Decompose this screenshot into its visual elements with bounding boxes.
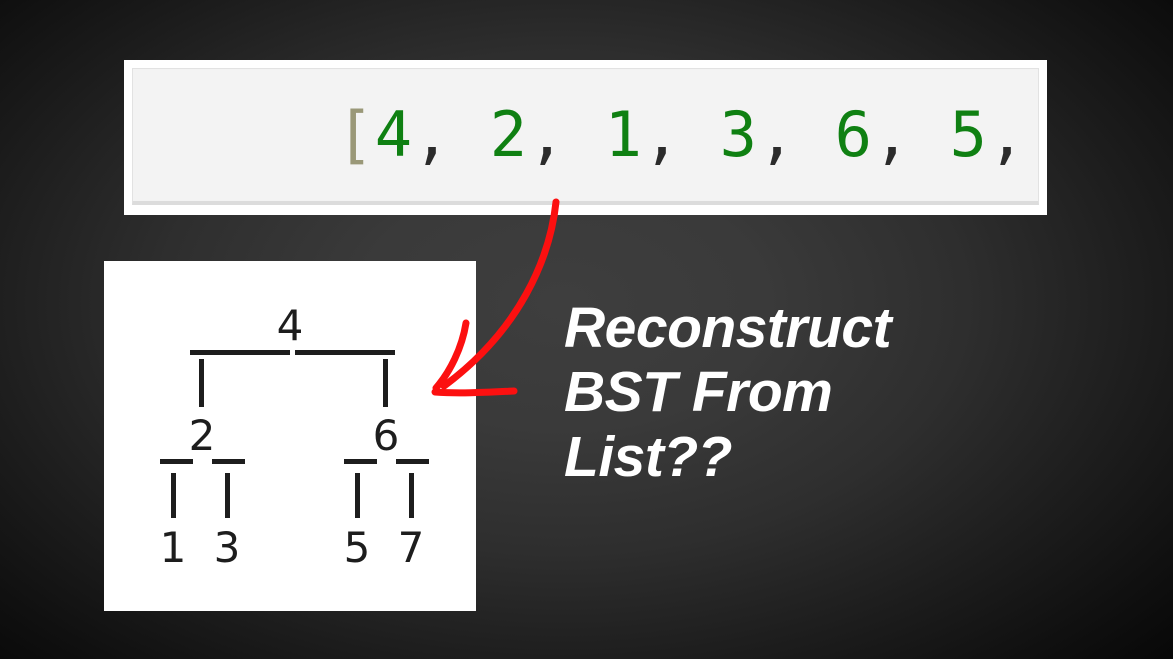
- list-separator-5: ,: [988, 98, 1039, 171]
- list-value-2: 1: [605, 98, 643, 171]
- list-value-5: 5: [950, 98, 988, 171]
- list-value-0: 4: [375, 98, 413, 171]
- list-separator-2: ,: [643, 98, 720, 171]
- connector-6-right: [409, 473, 414, 518]
- list-separator-1: ,: [528, 98, 605, 171]
- bst-node-7: 7: [398, 527, 425, 569]
- bst-diagram-box: 4 2 6 1 3 5 7: [104, 261, 476, 611]
- list-value-3: 3: [720, 98, 758, 171]
- connector-root-left: [199, 359, 204, 407]
- branch-root-left: [190, 350, 290, 355]
- branch-6-left: [344, 459, 377, 464]
- list-separator-3: ,: [758, 98, 835, 171]
- branch-2-right: [212, 459, 245, 464]
- code-snippet-box: [4, 2, 1, 3, 6, 5, 7]: [124, 60, 1047, 215]
- slide-headline: Reconstruct BST From List??: [564, 296, 1064, 489]
- bst-node-2: 2: [189, 415, 216, 457]
- list-separator-4: ,: [873, 98, 950, 171]
- code-snippet-text: [4, 2, 1, 3, 6, 5, 7]: [132, 68, 1039, 205]
- headline-line-1: Reconstruct: [564, 296, 1064, 360]
- code-snippet-panel: [4, 2, 1, 3, 6, 5, 7]: [132, 68, 1039, 205]
- bst-node-3: 3: [214, 527, 241, 569]
- connector-root-right: [383, 359, 388, 407]
- branch-root-right: [295, 350, 395, 355]
- connector-6-left: [355, 473, 360, 518]
- branch-2-left: [160, 459, 193, 464]
- open-bracket: [: [336, 98, 374, 171]
- headline-line-2: BST From: [564, 360, 1064, 424]
- connector-2-left: [171, 473, 176, 518]
- bst-node-6: 6: [373, 415, 400, 457]
- list-value-1: 2: [490, 98, 528, 171]
- bst-node-5: 5: [344, 527, 371, 569]
- connector-2-right: [225, 473, 230, 518]
- bst-node-1: 1: [160, 527, 187, 569]
- headline-line-3: List??: [564, 425, 1064, 489]
- list-value-4: 6: [835, 98, 873, 171]
- bst-node-4: 4: [277, 305, 304, 347]
- slide-canvas: [4, 2, 1, 3, 6, 5, 7] 4 2 6: [0, 0, 1173, 659]
- branch-6-right: [396, 459, 429, 464]
- list-separator-0: ,: [413, 98, 490, 171]
